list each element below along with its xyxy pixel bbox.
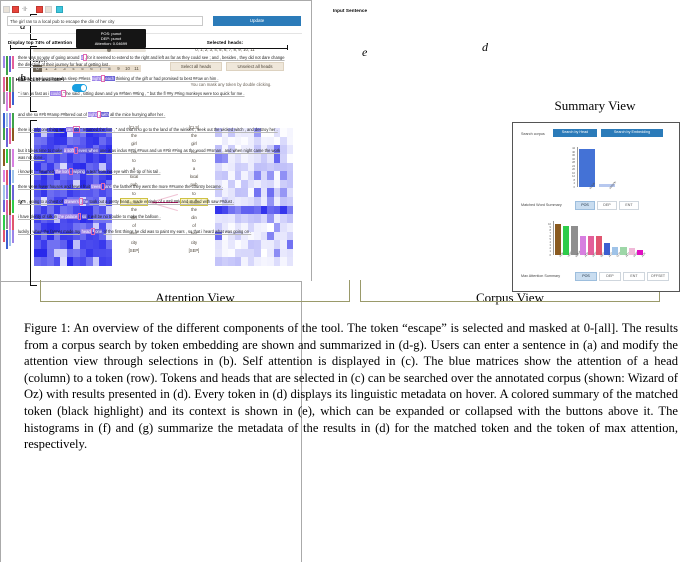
context-bar	[6, 128, 8, 147]
context-bar	[12, 149, 14, 167]
token-to-8[interactable]: to	[180, 190, 208, 198]
corpus-sentence[interactable]: and she so ##lt ##amp ##ltered out of si…	[18, 112, 286, 119]
attention-cell[interactable]	[106, 137, 113, 146]
context-bar	[12, 170, 14, 183]
attention-cell[interactable]	[287, 232, 294, 241]
figure-image: a b c Input Sentence The girl ran to a l…	[0, 0, 700, 310]
context-color-summary[interactable]	[3, 128, 14, 147]
annotation-letter-d: d	[482, 40, 488, 55]
context-color-summary[interactable]	[3, 92, 14, 111]
context-bar	[9, 200, 11, 216]
matched-word-tab-pos[interactable]: POS	[575, 201, 595, 210]
y-tick-label: 20	[568, 168, 575, 171]
corpus-axis-start-tick	[10, 45, 11, 50]
y-tick-label: 3	[544, 244, 551, 247]
histogram-bar[interactable]	[555, 224, 561, 255]
figure-caption: Figure 1: An overview of the different c…	[24, 320, 678, 453]
context-bar	[9, 128, 11, 144]
search-corpus-label: Search corpus	[521, 132, 545, 136]
y-tick-label: 24	[568, 165, 575, 168]
y-tick-label: 9	[544, 226, 551, 229]
context-bar	[9, 230, 11, 246]
token-metadata-tooltip: POS: punct DEP: punct Attention: 0.04699	[76, 29, 146, 48]
attention-cell[interactable]	[287, 197, 294, 206]
context-bar	[12, 128, 14, 141]
attention-threshold-slider[interactable]	[33, 49, 146, 52]
mask-hint-text: You can mask any token by double clickin…	[161, 82, 301, 87]
selected-heads-label: Selected heads:	[150, 40, 300, 45]
y-axis	[577, 147, 578, 187]
y-tick-label: 5	[544, 238, 551, 241]
context-bar	[3, 56, 5, 68]
matched-word-tab-ent[interactable]: ENT	[619, 201, 639, 210]
summary-view-panel: Search corpus Search by Head Search by E…	[512, 122, 680, 292]
attention-cell[interactable]	[287, 163, 294, 172]
summary-view-title: Summary View	[512, 98, 678, 114]
matched-word-histogram: 048121620242832364044NOUNPROPN	[565, 145, 619, 197]
token-the-10[interactable]: the	[120, 206, 148, 214]
corpus-sentence[interactable]: there is only one thing we can do " retu…	[18, 127, 286, 134]
y-tick-label: 12	[568, 175, 575, 178]
context-bar	[6, 185, 8, 199]
corpus-sentence[interactable]: i have plenty of silk in the palace , so…	[18, 214, 286, 221]
attention-cell[interactable]	[287, 223, 294, 232]
plus-icon[interactable]	[45, 6, 52, 13]
attention-cell[interactable]	[287, 240, 294, 249]
y-tick-label: 7	[544, 232, 551, 235]
y-tick-label: 1	[544, 250, 551, 253]
attention-cell[interactable]	[287, 171, 294, 180]
update-button[interactable]: Update	[213, 16, 301, 26]
context-bar	[9, 149, 11, 170]
max-attention-tab-dep[interactable]: DEP	[599, 272, 621, 281]
corpus-sentence[interactable]: luckily , when the farmer made my head ,…	[18, 229, 286, 236]
context-color-summary[interactable]	[3, 56, 14, 75]
y-tick-label: 44	[568, 147, 575, 150]
context-bar	[6, 113, 8, 127]
token-city-14[interactable]: city	[120, 239, 148, 247]
context-bar	[6, 92, 8, 111]
attention-cell[interactable]	[287, 154, 294, 163]
corpus-sentence[interactable]: the four travelers passed a sleep ##less…	[18, 76, 286, 83]
context-bar	[6, 230, 8, 249]
context-bar	[3, 170, 5, 182]
context-bar	[3, 92, 5, 104]
y-tick-label: 6	[544, 235, 551, 238]
corpus-axis	[10, 48, 288, 49]
attention-cell[interactable]	[287, 180, 294, 189]
context-bar	[9, 92, 11, 108]
corpus-sentence[interactable]: i know it , " returned the lion , wiping…	[18, 169, 286, 176]
x-tick-label: PROPN	[609, 181, 617, 190]
context-bar	[12, 200, 14, 213]
minus-icon[interactable]	[36, 6, 43, 13]
tooltip-attention: Attention: 0.04699	[79, 41, 143, 46]
context-bar	[3, 128, 5, 140]
context-bar	[6, 77, 8, 91]
histogram-bar[interactable]	[580, 236, 586, 255]
y-tick-label: 28	[568, 161, 575, 164]
attention-cell[interactable]	[287, 206, 294, 215]
histogram-bar[interactable]	[596, 236, 602, 255]
context-bar	[6, 215, 8, 229]
context-bar	[6, 56, 8, 75]
context-color-summary[interactable]	[3, 230, 14, 249]
attention-cell[interactable]	[287, 214, 294, 223]
token-SEP-15[interactable]: [SEP]	[180, 247, 208, 255]
context-bar	[12, 230, 14, 243]
max-attention-tab-offset[interactable]: OFFSET	[647, 272, 669, 281]
y-tick-label: 16	[568, 172, 575, 175]
attention-cell[interactable]	[287, 137, 294, 146]
attention-cell[interactable]	[287, 145, 294, 154]
corpus-sentence[interactable]: there were fewer houses and fewer fruit …	[18, 184, 286, 191]
corpus-sentence[interactable]: then , going to a chest of drawers , he …	[18, 199, 286, 206]
attention-cell[interactable]	[106, 249, 113, 258]
search-by-head-button[interactable]: Search by Head	[553, 129, 597, 137]
y-tick-label: 36	[568, 154, 575, 157]
attention-view-bracket	[40, 280, 350, 302]
y-tick-label: 2	[544, 247, 551, 250]
attention-cell[interactable]	[287, 128, 294, 137]
context-bar	[9, 170, 11, 186]
attention-cell[interactable]	[106, 206, 113, 215]
annotation-letter-e: e	[362, 45, 367, 60]
corpus-sentence[interactable]: but it takes time to make a soft , even …	[18, 148, 286, 161]
max-attention-tab-pos[interactable]: POS	[575, 272, 597, 281]
token-to-8[interactable]: to	[120, 190, 148, 198]
search-by-embedding-button[interactable]: Search by Embedding	[601, 129, 663, 137]
max-attention-histogram: 012345678910PUNCTVERBNOUNADPPRONDETADJCC…	[541, 219, 645, 265]
attention-cell[interactable]	[106, 240, 113, 249]
histogram-bar[interactable]	[588, 236, 594, 255]
max-attention-tab-ent[interactable]: ENT	[623, 272, 645, 281]
sentence-input[interactable]: The girl ran to a local pub to escape th…	[7, 16, 203, 26]
context-bar	[3, 200, 5, 212]
y-tick-label: 0	[544, 254, 551, 257]
token-SEP-15[interactable]: [SEP]	[120, 247, 148, 255]
settings-icon[interactable]	[56, 6, 63, 13]
attention-cell[interactable]	[287, 188, 294, 197]
token-the-10[interactable]: the	[180, 206, 208, 214]
context-color-summary[interactable]	[3, 149, 14, 170]
y-tick-label: 10	[544, 223, 551, 226]
histogram-bar[interactable]	[563, 226, 569, 255]
context-bar	[3, 230, 5, 242]
attention-view-panel: Input Sentence The girl ran to a local p…	[0, 0, 312, 281]
input-sentence-label: Input Sentence	[0, 8, 700, 13]
matched-word-summary-label: Matched Word Summary	[521, 203, 562, 207]
max-attention-summary-label: Max Attention Summary	[521, 274, 560, 278]
matched-word-tab-dep[interactable]: DEP	[597, 201, 617, 210]
y-tick-label: 32	[568, 158, 575, 161]
corpus-sentence[interactable]: there was no way of going around it , fo…	[18, 55, 286, 68]
y-tick-label: 40	[568, 151, 575, 154]
context-bar	[12, 56, 14, 69]
collapse-icon[interactable]	[3, 6, 10, 13]
y-axis	[553, 221, 554, 255]
separator-icon: -||-	[22, 6, 27, 11]
y-tick-label: 4	[568, 182, 575, 185]
histogram-bar[interactable]	[571, 226, 577, 255]
token-city-14[interactable]: city	[180, 239, 208, 247]
expand-icon[interactable]	[12, 6, 19, 13]
context-bar	[6, 149, 8, 163]
y-tick-label: 0	[568, 186, 575, 189]
y-tick-label: 8	[544, 229, 551, 232]
context-bar	[3, 149, 5, 166]
context-bar	[12, 92, 14, 105]
y-tick-label: 4	[544, 241, 551, 244]
y-tick-label: 8	[568, 179, 575, 182]
context-bar	[9, 56, 11, 72]
corpus-sentence[interactable]: " i ran as fast as i could ," he said , …	[18, 91, 286, 98]
attention-cell[interactable]	[287, 257, 294, 266]
attention-cell[interactable]	[287, 249, 294, 258]
attention-cell[interactable]	[106, 257, 113, 266]
corpus-axis-end-tick	[287, 45, 288, 50]
